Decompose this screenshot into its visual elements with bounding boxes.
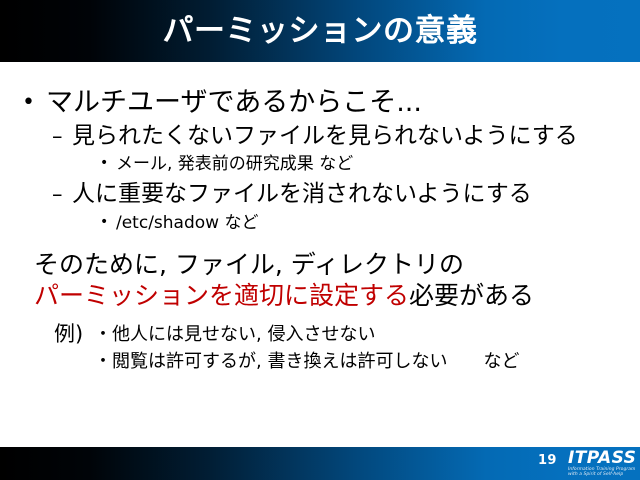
example-item-2: ・閲覧は許可するが, 書き換えは許可しない など (94, 347, 519, 373)
bullet-marker-dot-small: • (100, 214, 116, 230)
slide-title: パーミッションの意義 (0, 0, 640, 62)
example-item-1: ・他人には見せない, 侵入させない (94, 320, 375, 346)
bullet-level1-multiuser: •マルチユーザであるからこそ... (22, 80, 422, 119)
bullet-marker-dash: – (52, 182, 72, 206)
slide-body: •マルチユーザであるからこそ... –見られたくないファイルを見られないようにす… (0, 62, 640, 447)
statement-highlight: パーミッションを適切に設定する (34, 281, 409, 310)
example-label: 例) (54, 318, 83, 348)
bullet-level3-mail-results: •メール, 発表前の研究成果 など (100, 149, 353, 174)
bullet-marker-dash: – (52, 124, 72, 148)
bullet-level3-etc-shadow: •/etc/shadow など (100, 208, 258, 233)
bullet-level2-prevent-delete: –人に重要なファイルを消されないようにする (52, 174, 532, 208)
page-number: 19 (538, 453, 557, 468)
itpass-logo: ITPASS Information Training Program with… (568, 450, 636, 478)
bullet-text: 見られたくないファイルを見られないようにする (72, 123, 578, 149)
bullet-marker-dot: • (22, 90, 46, 115)
bullet-level2-hide-files: –見られたくないファイルを見られないようにする (52, 116, 578, 150)
bullet-text: マルチユーザであるからこそ... (46, 87, 422, 118)
statement-tail: 必要がある (409, 281, 534, 310)
logo-name: ITPASS (568, 450, 636, 467)
bullet-marker-dot-small: • (100, 155, 116, 171)
statement-line-2: パーミッションを適切に設定する必要がある (34, 276, 534, 312)
logo-tagline-line2: with a Spirit of Self-help (568, 472, 636, 477)
slide: パーミッションの意義 •マルチユーザであるからこそ... –見られたくないファイ… (0, 0, 640, 480)
bullet-text: メール, 発表前の研究成果 など (116, 154, 353, 174)
bullet-text: /etc/shadow など (116, 213, 258, 233)
title-bar: パーミッションの意義 (0, 0, 640, 62)
bullet-text: 人に重要なファイルを消されないようにする (72, 181, 532, 207)
